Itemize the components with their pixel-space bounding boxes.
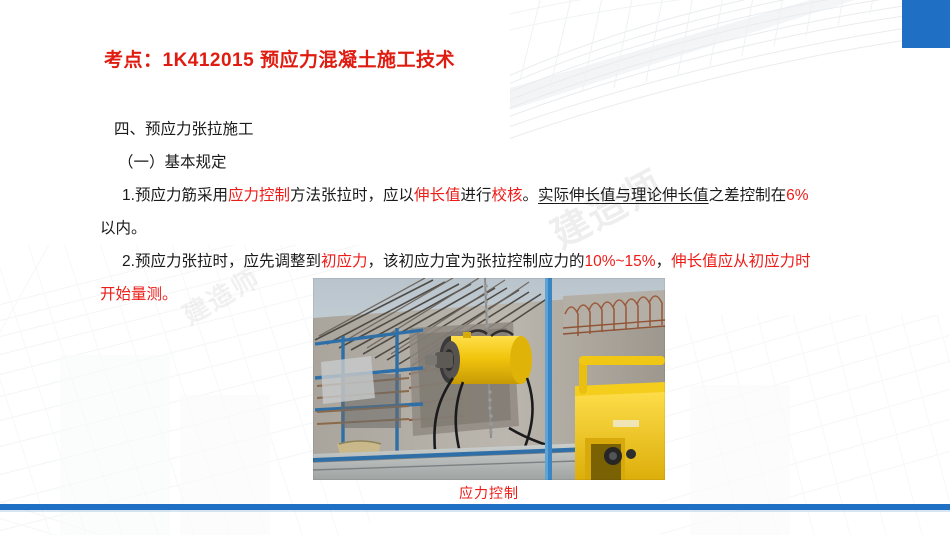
p2-number: 2. <box>122 253 135 270</box>
p1-seg9: 之差控制在 <box>709 187 787 204</box>
photo-illustration <box>313 278 665 480</box>
section-heading: 四、预应力张拉施工 <box>114 113 818 146</box>
p1-highlight-stress-control: 应力控制 <box>228 187 290 204</box>
construction-photo <box>313 278 665 480</box>
p1-seg5: 进行 <box>461 187 492 204</box>
photo-caption: 应力控制 <box>313 483 665 503</box>
p1-seg11: 以内。 <box>100 220 147 237</box>
p1-highlight-elongation: 伸长值 <box>414 187 461 204</box>
p2-seg1: 预应力张拉时，应先调整到 <box>135 253 321 270</box>
p1-highlight-percent: 6% <box>786 187 808 204</box>
p1-number: 1. <box>122 187 135 204</box>
p1-underlined-clause: 实际伸长值与理论伸长值 <box>538 187 709 204</box>
p2-seg5: ， <box>656 253 672 270</box>
presentation-slide: 建造师 建造师 考点：1K412015 预应力混凝土施工技术 四、预应力张拉施工… <box>0 0 950 535</box>
subsection-heading: （一）基本规定 <box>118 146 818 179</box>
p2-highlight-initial-stress: 初应力 <box>321 253 368 270</box>
slide-title: 考点：1K412015 预应力混凝土施工技术 <box>104 45 455 72</box>
p1-seg3: 方法张拉时，应以 <box>290 187 414 204</box>
blue-divider-shadow <box>0 510 950 512</box>
p1-seg7: 。 <box>523 187 539 204</box>
p2-highlight-range: 10%~15% <box>584 253 655 270</box>
paragraph-item-1: 1.预应力筋采用应力控制方法张拉时，应以伸长值进行校核。实际伸长值与理论伸长值之… <box>100 179 818 245</box>
blue-divider-rule <box>0 504 950 510</box>
blue-corner-accent <box>902 0 950 48</box>
building-texture-right <box>660 315 950 535</box>
p2-seg3: ，该初应力宜为张拉控制应力的 <box>367 253 584 270</box>
p1-highlight-check: 校核 <box>492 187 523 204</box>
p1-seg1: 预应力筋采用 <box>135 187 228 204</box>
